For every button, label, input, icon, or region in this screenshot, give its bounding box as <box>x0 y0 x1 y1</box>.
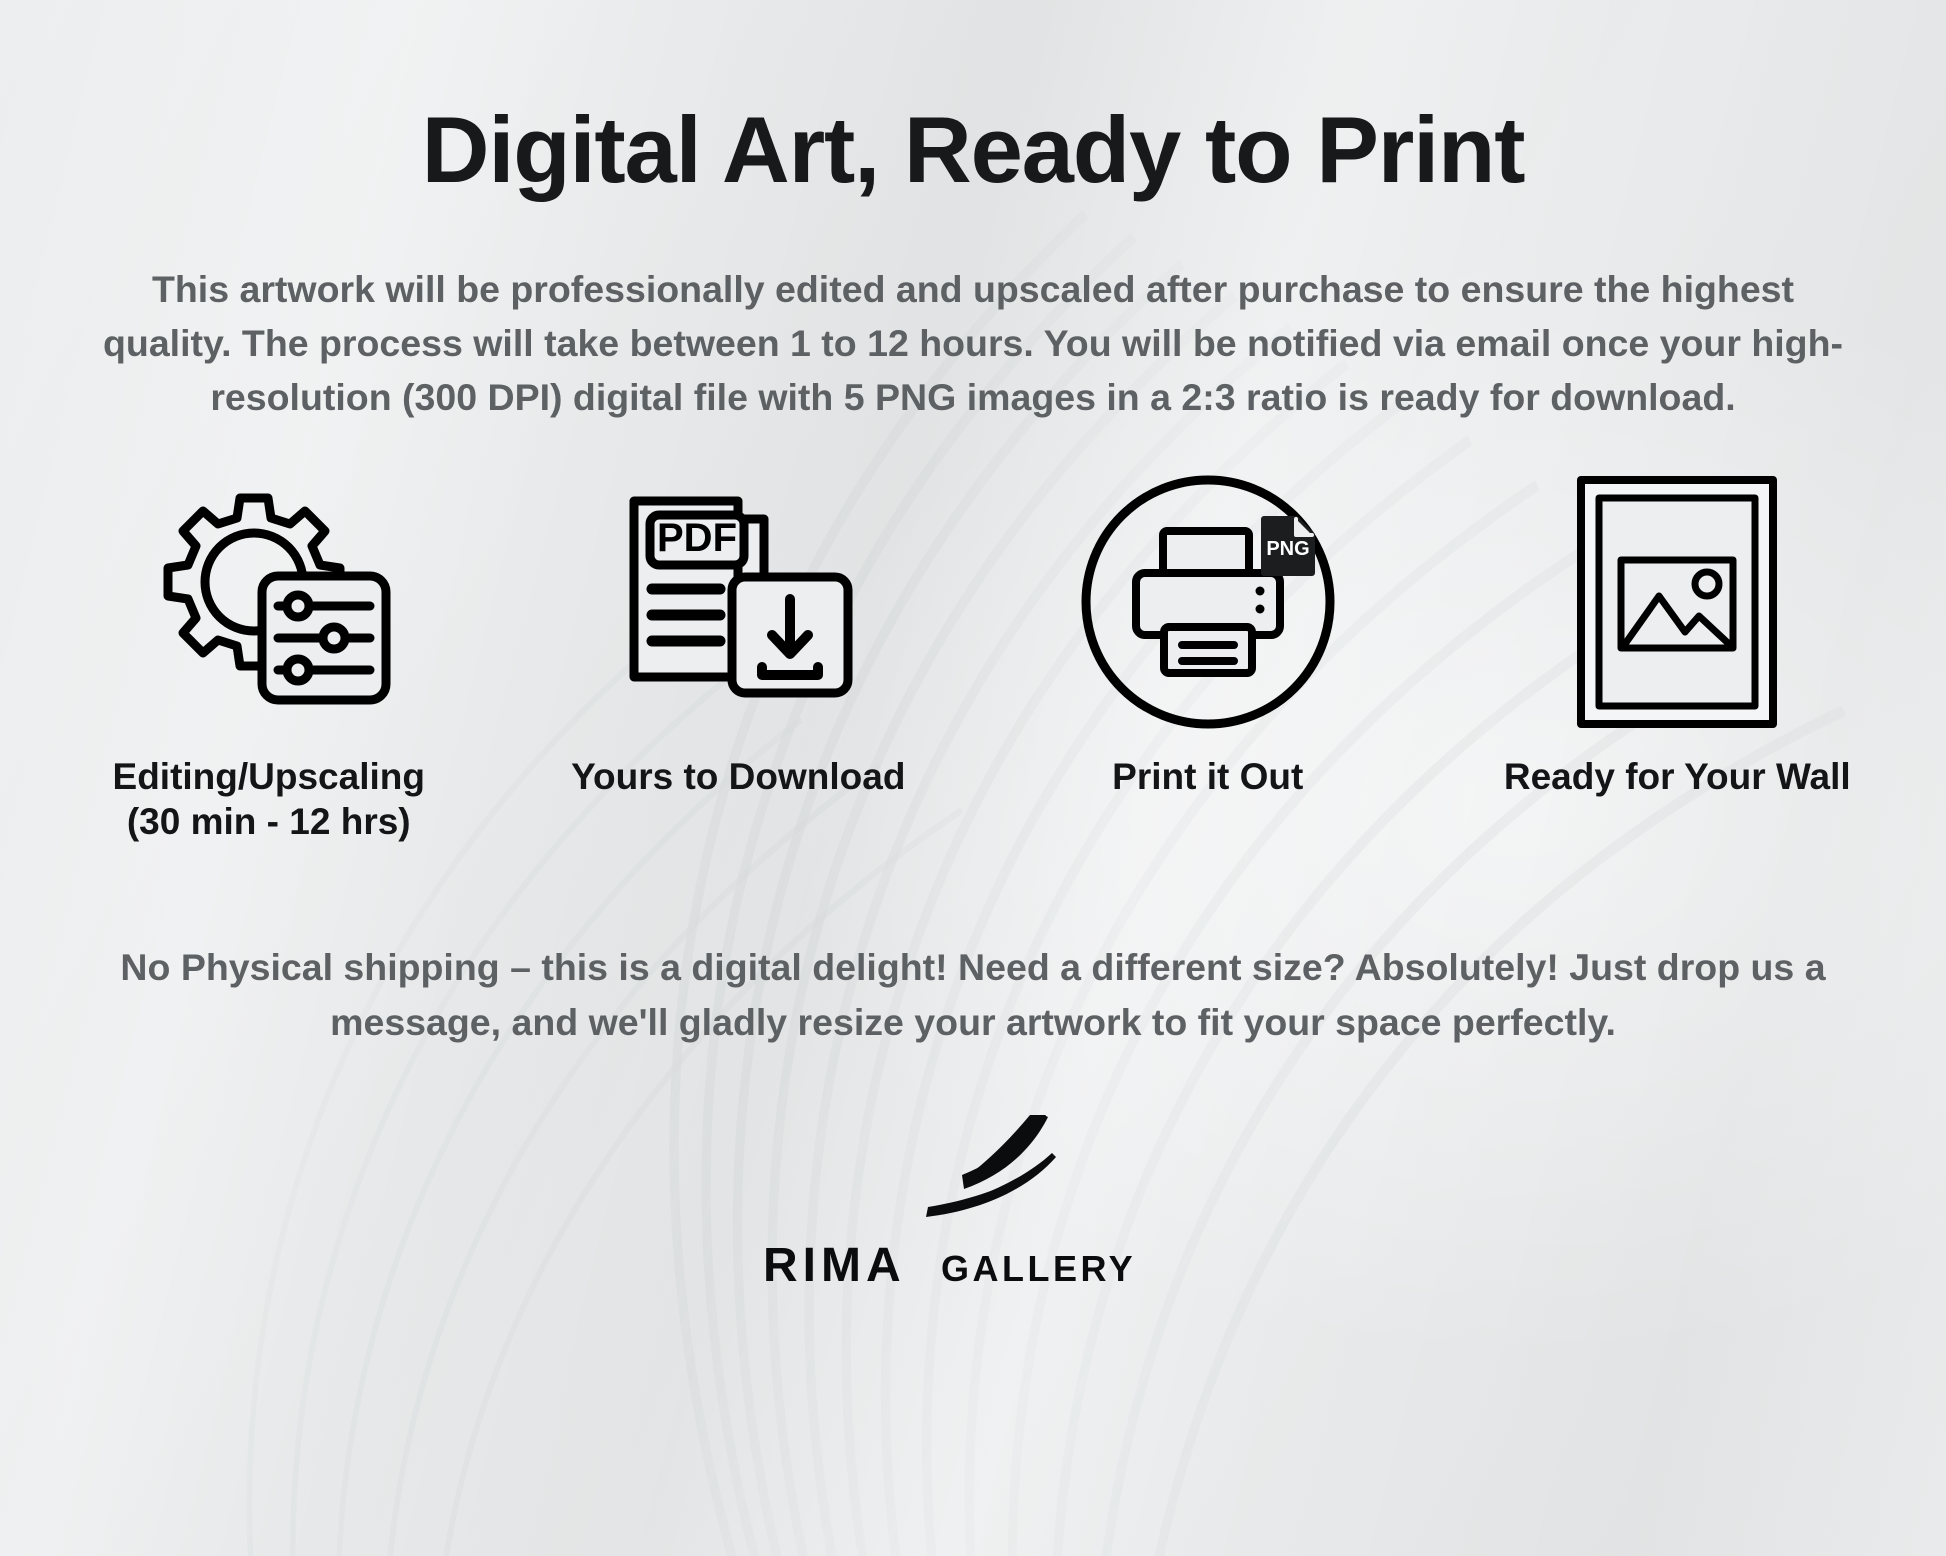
feature-print-it-out: PNG Print it Out <box>973 468 1443 799</box>
intro-paragraph: This artwork will be professionally edit… <box>58 262 1888 424</box>
outro-paragraph: No Physical shipping – this is a digital… <box>33 940 1913 1051</box>
pdf-badge-label: PDF <box>657 516 737 560</box>
page-root: Digital Art, Ready to Print This artwork… <box>0 0 1946 1556</box>
pdf-download-icon: PDF <box>604 468 872 736</box>
feature-label: Yours to Download <box>571 754 905 799</box>
feature-label: Print it Out <box>1112 754 1303 799</box>
swoosh-mark-icon <box>878 1109 1068 1229</box>
brand-primary-label: RIMA <box>763 1239 906 1292</box>
feature-label: Ready for Your Wall <box>1504 754 1851 799</box>
brand-wordmark-svg: RIMA GALLERY <box>763 1235 1183 1297</box>
feature-ready-for-your-wall: Ready for Your Wall <box>1443 468 1913 799</box>
printer-png-icon: PNG <box>1068 468 1348 736</box>
brand-logo: RIMA GALLERY <box>763 1109 1183 1297</box>
feature-label: Editing/Upscaling (30 min - 12 hrs) <box>113 754 425 844</box>
brand-secondary-label: GALLERY <box>941 1248 1136 1289</box>
feature-editing-upscaling: Editing/Upscaling (30 min - 12 hrs) <box>34 468 504 844</box>
page-title: Digital Art, Ready to Print <box>422 100 1525 200</box>
feature-row: Editing/Upscaling (30 min - 12 hrs) PDF <box>0 468 1946 844</box>
framed-picture-icon <box>1569 468 1785 736</box>
feature-yours-to-download: PDF Yours to Download <box>504 468 974 799</box>
png-badge-label: PNG <box>1266 538 1309 560</box>
brand-wordmark: RIMA GALLERY <box>763 1235 1183 1297</box>
gear-sliders-icon <box>144 468 394 736</box>
